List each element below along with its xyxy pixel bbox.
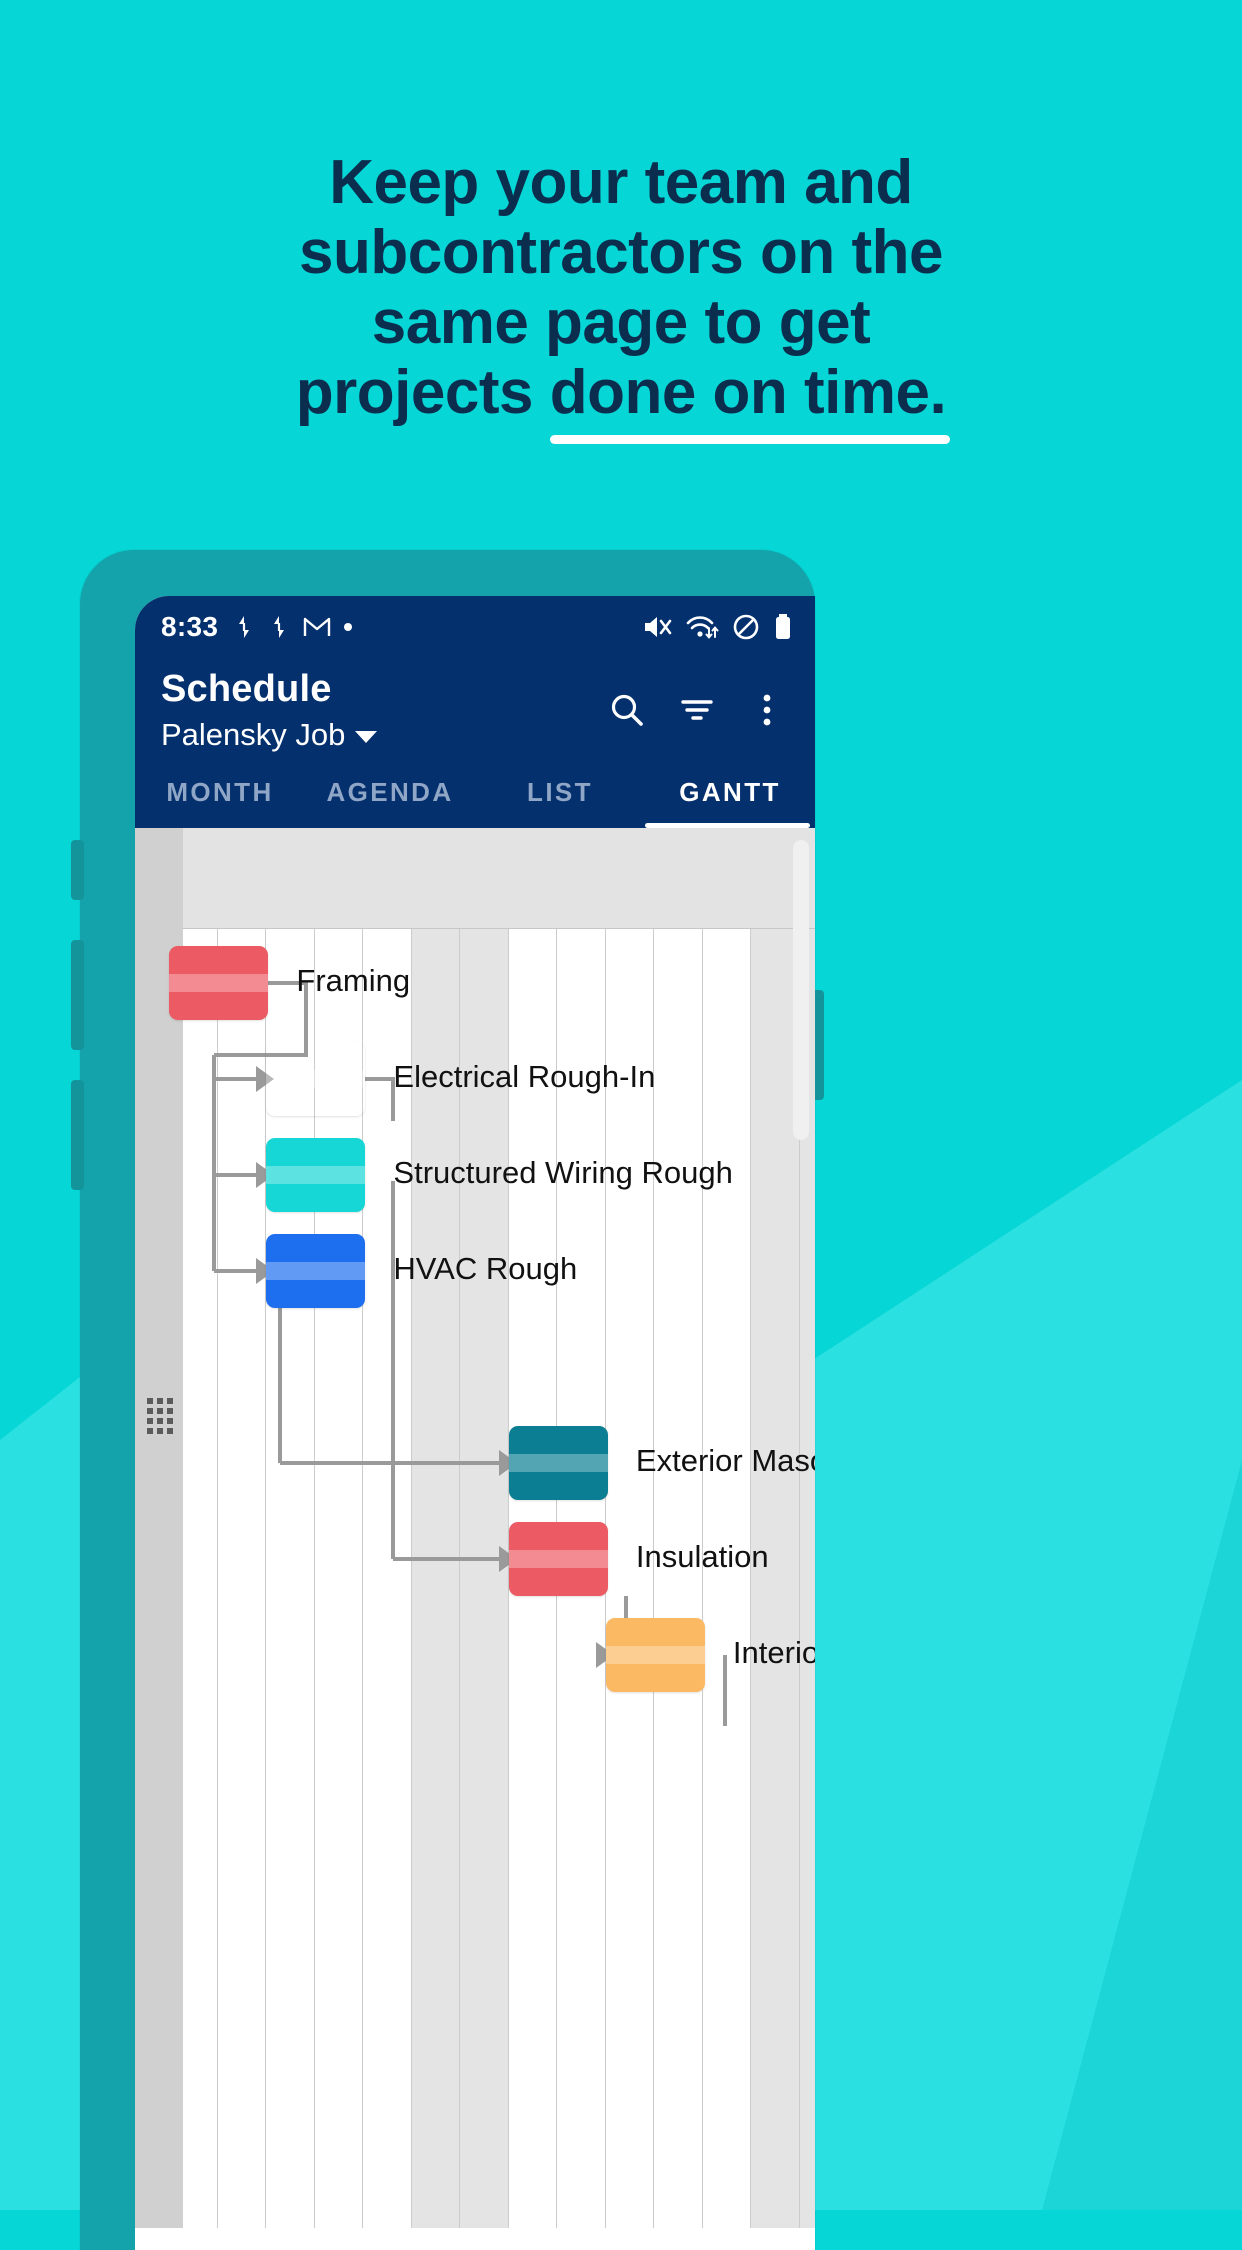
- gantt-task-progress-band: [606, 1646, 705, 1664]
- status-bar: 8:33: [135, 596, 815, 658]
- chevron-down-icon: [355, 731, 377, 743]
- do-not-disturb-icon: [732, 613, 760, 641]
- gantt-chart[interactable]: 12-11-202212-18-2022MTWTFSSMTWTFSS Frami…: [135, 828, 815, 2228]
- gmail-icon: [303, 615, 331, 639]
- tab-month[interactable]: MONTH: [135, 756, 305, 828]
- device-button-volume-down[interactable]: [71, 1080, 84, 1190]
- gantt-task-label[interactable]: Insulation: [636, 1539, 769, 1575]
- status-bar-left-icons: [233, 614, 352, 640]
- gantt-task-label[interactable]: HVAC Rough: [393, 1251, 577, 1287]
- app-bar-titles: Schedule Palensky Job: [135, 666, 595, 756]
- phone-screen: 8:33 Schedule Palensky Job: [135, 596, 815, 2250]
- sync-icon: [233, 614, 255, 640]
- gantt-task-label[interactable]: Framing: [296, 963, 410, 999]
- gantt-task-progress-band: [509, 1454, 608, 1472]
- device-button-volume-up[interactable]: [71, 940, 84, 1050]
- headline-line-2: subcontractors on the: [299, 218, 943, 287]
- filter-button[interactable]: [665, 678, 729, 742]
- overflow-menu-button[interactable]: [735, 678, 799, 742]
- headline-line-4-emph: done on time.: [550, 358, 947, 427]
- gantt-task-bar[interactable]: [266, 1042, 365, 1116]
- page-title: Schedule: [161, 666, 595, 712]
- gantt-task-bar[interactable]: [266, 1234, 365, 1308]
- headline-line-4-plain: projects: [296, 358, 550, 427]
- job-selector-label: Palensky Job: [161, 714, 345, 756]
- headline-underline: [550, 435, 951, 444]
- gantt-task-progress-band: [169, 974, 268, 992]
- headline-line-1: Keep your team and: [329, 148, 913, 217]
- search-button[interactable]: [595, 678, 659, 742]
- wifi-data-icon: [685, 614, 719, 640]
- gantt-task-bar[interactable]: [266, 1138, 365, 1212]
- gantt-task-bar[interactable]: [169, 946, 268, 1020]
- status-bar-right-icons: [642, 613, 793, 641]
- job-selector[interactable]: Palensky Job: [161, 714, 595, 756]
- drag-handle-icon[interactable]: [147, 1398, 173, 1434]
- sync-icon: [268, 614, 290, 640]
- gantt-task-bar[interactable]: [509, 1522, 608, 1596]
- gantt-task-progress-band: [266, 1166, 365, 1184]
- app-bar: Schedule Palensky Job: [135, 658, 815, 756]
- device-button-mute[interactable]: [71, 840, 84, 900]
- overflow-menu-icon: [747, 690, 787, 730]
- gantt-task-label[interactable]: Electrical Rough-In: [393, 1059, 655, 1095]
- vertical-scrollbar[interactable]: [793, 840, 809, 1140]
- tab-gantt[interactable]: GANTT: [645, 756, 815, 828]
- app-bar-actions: [595, 666, 815, 742]
- view-tabs: MONTH AGENDA LIST GANTT: [135, 756, 815, 828]
- gantt-dependency-link: [135, 828, 815, 2228]
- phone-device-frame: 8:33 Schedule Palensky Job: [80, 550, 815, 2250]
- gantt-task-bar[interactable]: [606, 1618, 705, 1692]
- headline-line-3: same page to get: [372, 288, 870, 357]
- headline-emphasis: done on time.: [550, 358, 947, 427]
- mute-icon: [642, 614, 672, 640]
- page-headline: Keep your team and subcontractors on the…: [0, 148, 1242, 428]
- search-icon: [607, 690, 647, 730]
- gantt-task-label[interactable]: Interior Millwork: [733, 1635, 815, 1671]
- filter-icon: [677, 690, 717, 730]
- gantt-task-progress-band: [266, 1262, 365, 1280]
- gantt-task-bar[interactable]: [509, 1426, 608, 1500]
- gantt-task-progress-band: [509, 1550, 608, 1568]
- gantt-task-label[interactable]: Structured Wiring Rough: [393, 1155, 732, 1191]
- status-bar-clock: 8:33: [161, 611, 218, 643]
- tab-list[interactable]: LIST: [475, 756, 645, 828]
- dot-icon: [344, 623, 352, 631]
- gantt-task-label[interactable]: Exterior Masonry: [636, 1443, 815, 1479]
- tab-agenda[interactable]: AGENDA: [305, 756, 475, 828]
- gantt-task-progress-band: [266, 1070, 365, 1088]
- battery-icon: [773, 613, 793, 641]
